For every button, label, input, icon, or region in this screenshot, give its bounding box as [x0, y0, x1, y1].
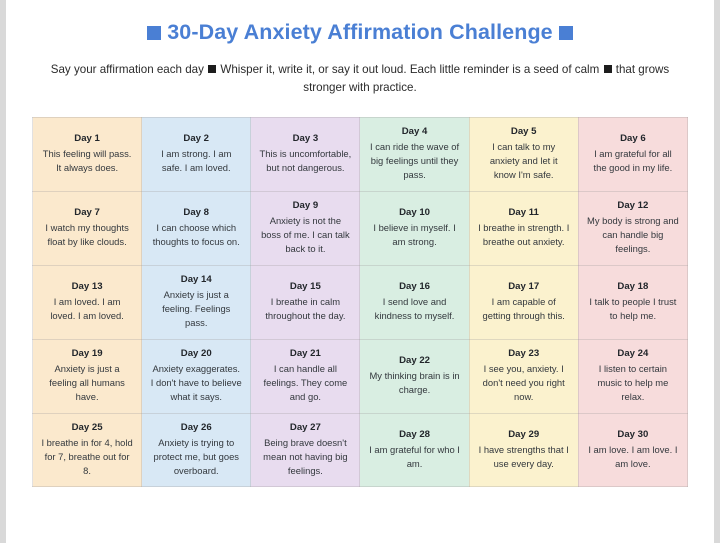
- blue-square-left-icon: [147, 26, 161, 40]
- affirmation-text: I can ride the wave of big feelings unti…: [368, 140, 460, 182]
- affirmation-text: Anxiety exaggerates. I don't have to bel…: [150, 362, 242, 404]
- day-cell[interactable]: Day 17I am capable of getting through th…: [469, 265, 578, 339]
- affirmation-text: I am grateful for who I am.: [368, 443, 460, 471]
- blue-square-right-icon: [559, 26, 573, 40]
- day-label: Day 10: [368, 206, 460, 220]
- day-cell[interactable]: Day 10I believe in myself. I am strong.: [360, 191, 469, 265]
- day-label: Day 23: [478, 347, 570, 361]
- day-cell[interactable]: Day 9Anxiety is not the boss of me. I ca…: [251, 191, 360, 265]
- affirmation-text: I can choose which thoughts to focus on.: [150, 221, 242, 249]
- day-label: Day 12: [587, 199, 679, 213]
- day-label: Day 11: [478, 206, 570, 220]
- affirmation-text: I breathe in strength. I breathe out anx…: [478, 221, 570, 249]
- black-square-tofu-icon-2: [604, 65, 612, 73]
- day-label: Day 29: [478, 428, 570, 442]
- day-cell[interactable]: Day 30I am love. I am love. I am love.: [578, 413, 687, 487]
- affirmation-text: My body is strong and can handle big fee…: [587, 214, 679, 256]
- affirmation-text: Anxiety is just a feeling. Feelings pass…: [150, 288, 242, 330]
- challenge-grid-container: Day 1This feeling will pass. It always d…: [6, 97, 714, 488]
- day-cell[interactable]: Day 16I send love and kindness to myself…: [360, 265, 469, 339]
- day-cell[interactable]: Day 27Being brave doesn't mean not havin…: [251, 413, 360, 487]
- affirmation-text: I am loved. I am loved. I am loved.: [41, 295, 133, 323]
- day-label: Day 6: [587, 132, 679, 146]
- affirmation-text: I breathe in calm throughout the day.: [259, 295, 351, 323]
- day-cell[interactable]: Day 11I breathe in strength. I breathe o…: [469, 191, 578, 265]
- day-cell[interactable]: Day 18I talk to people I trust to help m…: [578, 265, 687, 339]
- day-label: Day 22: [368, 354, 460, 368]
- day-cell[interactable]: Day 15I breathe in calm throughout the d…: [251, 265, 360, 339]
- day-label: Day 7: [41, 206, 133, 220]
- challenge-table-body: Day 1This feeling will pass. It always d…: [33, 117, 688, 487]
- day-label: Day 30: [587, 428, 679, 442]
- day-cell[interactable]: Day 14Anxiety is just a feeling. Feeling…: [142, 265, 251, 339]
- challenge-row: Day 1This feeling will pass. It always d…: [33, 117, 688, 191]
- day-label: Day 15: [259, 280, 351, 294]
- day-label: Day 13: [41, 280, 133, 294]
- day-label: Day 9: [259, 199, 351, 213]
- day-cell[interactable]: Day 24I listen to certain music to help …: [578, 339, 687, 413]
- page-title-text: 30-Day Anxiety Affirmation Challenge: [167, 20, 553, 44]
- day-label: Day 20: [150, 347, 242, 361]
- affirmation-text: I talk to people I trust to help me.: [587, 295, 679, 323]
- affirmation-text: My thinking brain is in charge.: [368, 369, 460, 397]
- day-cell[interactable]: Day 22My thinking brain is in charge.: [360, 339, 469, 413]
- day-label: Day 26: [150, 421, 242, 435]
- day-label: Day 27: [259, 421, 351, 435]
- day-label: Day 8: [150, 206, 242, 220]
- affirmation-text: I watch my thoughts float by like clouds…: [41, 221, 133, 249]
- day-cell[interactable]: Day 5I can talk to my anxiety and let it…: [469, 117, 578, 191]
- affirmation-text: This feeling will pass. It always does.: [41, 147, 133, 175]
- day-label: Day 14: [150, 273, 242, 287]
- day-label: Day 2: [150, 132, 242, 146]
- challenge-row: Day 25I breathe in for 4, hold for 7, br…: [33, 413, 688, 487]
- affirmation-text: I believe in myself. I am strong.: [368, 221, 460, 249]
- document-page: 30-Day Anxiety Affirmation Challenge Say…: [6, 0, 714, 543]
- subtitle-segment-2: Whisper it, write it, or say it out loud…: [220, 63, 599, 76]
- subtitle-segment-1: Say your affirmation each day: [51, 63, 204, 76]
- challenge-table: Day 1This feeling will pass. It always d…: [32, 117, 688, 488]
- black-square-tofu-icon-1: [208, 65, 216, 73]
- day-label: Day 17: [478, 280, 570, 294]
- affirmation-text: Being brave doesn't mean not having big …: [259, 436, 351, 478]
- challenge-row: Day 13I am loved. I am loved. I am loved…: [33, 265, 688, 339]
- affirmation-text: I listen to certain music to help me rel…: [587, 362, 679, 404]
- affirmation-text: I can handle all feelings. They come and…: [259, 362, 351, 404]
- challenge-row: Day 7I watch my thoughts float by like c…: [33, 191, 688, 265]
- affirmation-text: I breathe in for 4, hold for 7, breathe …: [41, 436, 133, 478]
- day-cell[interactable]: Day 29I have strengths that I use every …: [469, 413, 578, 487]
- affirmation-text: Anxiety is trying to protect me, but goe…: [150, 436, 242, 478]
- page-subtitle: Say your affirmation each day Whisper it…: [6, 47, 714, 97]
- affirmation-text: Anxiety is just a feeling all humans hav…: [41, 362, 133, 404]
- day-cell[interactable]: Day 13I am loved. I am loved. I am loved…: [33, 265, 142, 339]
- day-cell[interactable]: Day 28I am grateful for who I am.: [360, 413, 469, 487]
- day-label: Day 4: [368, 125, 460, 139]
- day-label: Day 19: [41, 347, 133, 361]
- affirmation-text: I am love. I am love. I am love.: [587, 443, 679, 471]
- affirmation-text: I am strong. I am safe. I am loved.: [150, 147, 242, 175]
- day-cell[interactable]: Day 23I see you, anxiety. I don't need y…: [469, 339, 578, 413]
- day-cell[interactable]: Day 19Anxiety is just a feeling all huma…: [33, 339, 142, 413]
- day-cell[interactable]: Day 25I breathe in for 4, hold for 7, br…: [33, 413, 142, 487]
- affirmation-text: I can talk to my anxiety and let it know…: [478, 140, 570, 182]
- day-label: Day 1: [41, 132, 133, 146]
- day-cell[interactable]: Day 1This feeling will pass. It always d…: [33, 117, 142, 191]
- day-label: Day 28: [368, 428, 460, 442]
- affirmation-text: I have strengths that I use every day.: [478, 443, 570, 471]
- day-label: Day 21: [259, 347, 351, 361]
- day-label: Day 24: [587, 347, 679, 361]
- challenge-row: Day 19Anxiety is just a feeling all huma…: [33, 339, 688, 413]
- day-cell[interactable]: Day 2I am strong. I am safe. I am loved.: [142, 117, 251, 191]
- affirmation-text: I am capable of getting through this.: [478, 295, 570, 323]
- day-cell[interactable]: Day 7I watch my thoughts float by like c…: [33, 191, 142, 265]
- page-title: 30-Day Anxiety Affirmation Challenge: [6, 0, 714, 47]
- affirmation-text: Anxiety is not the boss of me. I can tal…: [259, 214, 351, 256]
- day-cell[interactable]: Day 20Anxiety exaggerates. I don't have …: [142, 339, 251, 413]
- day-label: Day 18: [587, 280, 679, 294]
- day-cell[interactable]: Day 3This is uncomfortable, but not dang…: [251, 117, 360, 191]
- day-cell[interactable]: Day 6I am grateful for all the good in m…: [578, 117, 687, 191]
- day-label: Day 5: [478, 125, 570, 139]
- affirmation-text: I see you, anxiety. I don't need you rig…: [478, 362, 570, 404]
- day-cell[interactable]: Day 26Anxiety is trying to protect me, b…: [142, 413, 251, 487]
- day-cell[interactable]: Day 8I can choose which thoughts to focu…: [142, 191, 251, 265]
- day-cell[interactable]: Day 12My body is strong and can handle b…: [578, 191, 687, 265]
- day-label: Day 3: [259, 132, 351, 146]
- day-label: Day 16: [368, 280, 460, 294]
- affirmation-text: I send love and kindness to myself.: [368, 295, 460, 323]
- affirmation-text: I am grateful for all the good in my lif…: [587, 147, 679, 175]
- day-label: Day 25: [41, 421, 133, 435]
- affirmation-text: This is uncomfortable, but not dangerous…: [259, 147, 351, 175]
- day-cell[interactable]: Day 4I can ride the wave of big feelings…: [360, 117, 469, 191]
- day-cell[interactable]: Day 21I can handle all feelings. They co…: [251, 339, 360, 413]
